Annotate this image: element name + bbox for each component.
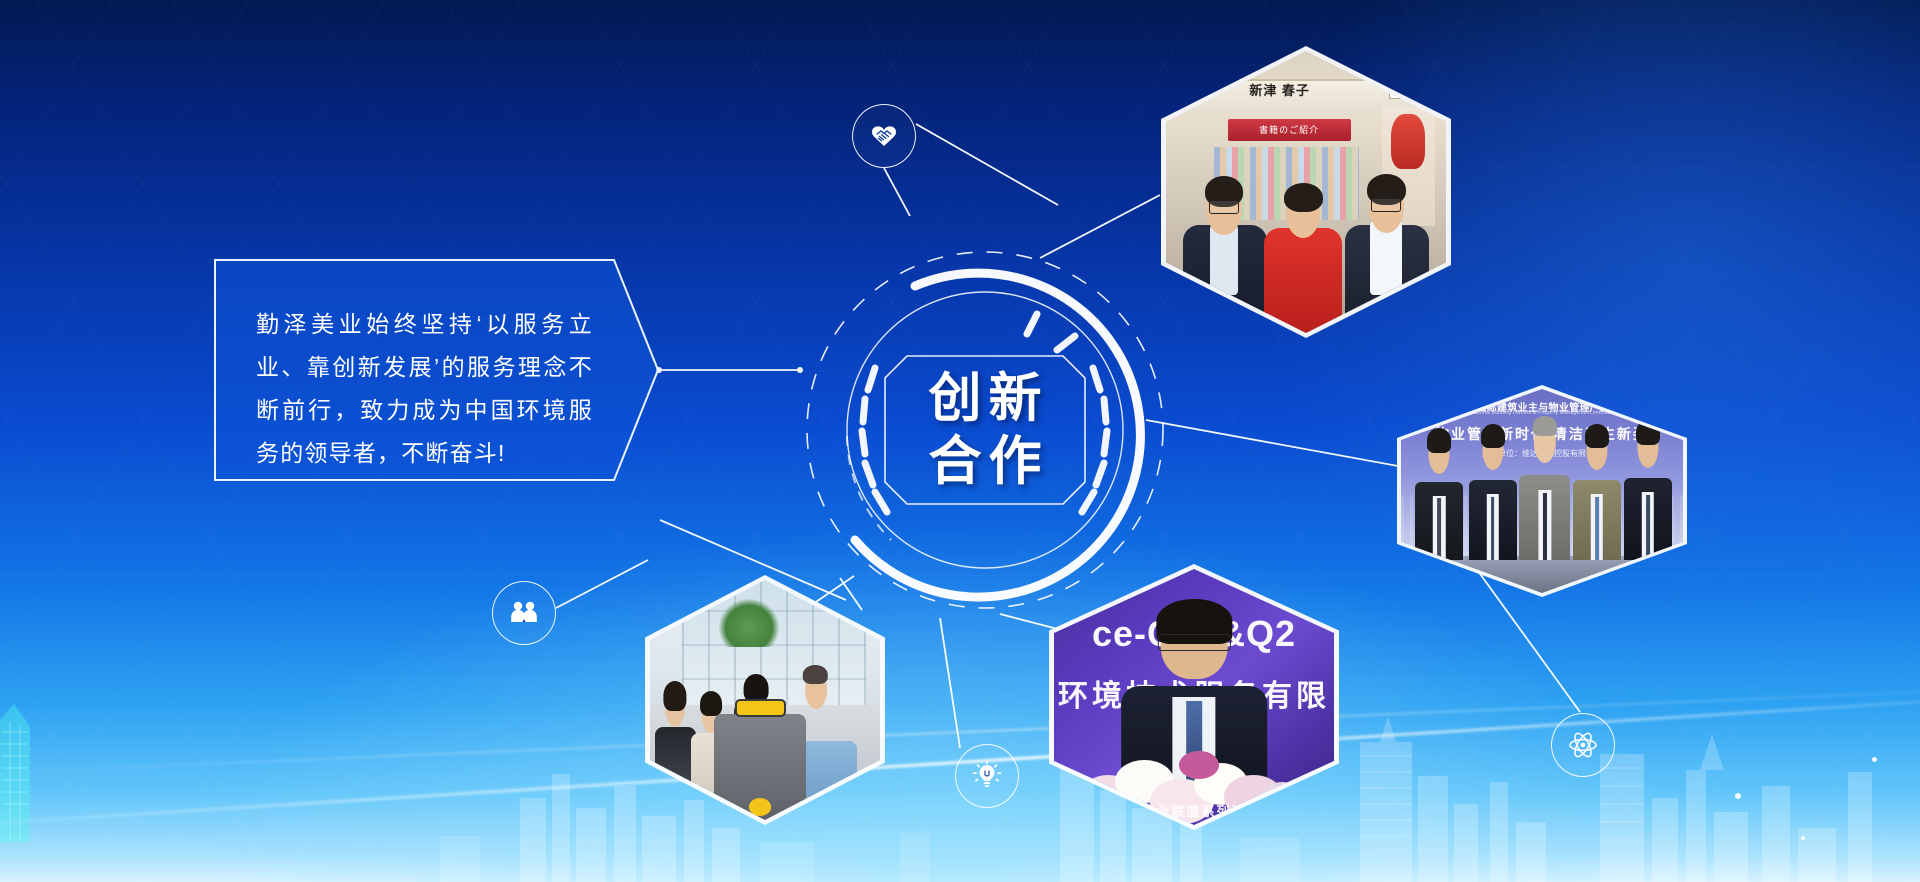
handshake-heart-icon [868, 120, 900, 152]
mission-statement-text: 勤泽美业始终坚持‘以服务立业、靠创新发展’的服务理念不断前行，致力成为中国环境服… [256, 303, 593, 475]
photo-hexagon-conference[interactable]: 2019上海国际建筑业主与物业管理产业创新发展 2019 Shanghai In… [1401, 389, 1683, 593]
lightbulb-icon [971, 760, 1003, 792]
conference-person-3 [1519, 414, 1570, 561]
speaker-screen-text-bottom: 服务业联盟系列活动 [1054, 801, 1334, 820]
sparkle-dot-1 [1735, 793, 1741, 799]
two-people-icon [508, 597, 540, 629]
person-center [1264, 169, 1342, 333]
conference-person-4 [1573, 422, 1621, 561]
bookstore-photo: 新津 春子 全仕事 書籍のご紹介 [1166, 51, 1446, 333]
handshake-heart-icon-node[interactable] [852, 104, 916, 168]
atom-icon-node[interactable] [1551, 713, 1615, 777]
bookstore-red-strip: 書籍のご紹介 [1228, 119, 1351, 142]
center-emblem: 创新 合作 [795, 240, 1175, 620]
city-skyline-silhouette [0, 712, 1920, 882]
photo-hexagon-bookstore[interactable]: 新津 春子 全仕事 書籍のご紹介 [1166, 51, 1446, 333]
sparkle-dot-3 [1801, 836, 1805, 840]
scrubber-knob [749, 798, 771, 816]
speaker-glasses-icon [1158, 634, 1231, 651]
hero-banner: 勤泽美业始终坚持‘以服务立业、靠创新发展’的服务理念不断前行，致力成为中国环境服… [0, 0, 1920, 882]
conference-floor [1401, 556, 1683, 593]
lightbulb-icon-node[interactable] [955, 744, 1019, 808]
demo-tree [719, 599, 779, 647]
scrubber-handle [735, 699, 787, 717]
conference-photo: 2019上海国际建筑业主与物业管理产业创新发展 2019 Shanghai In… [1401, 389, 1683, 593]
demo-person-1 [655, 676, 696, 810]
person-right [1345, 158, 1429, 333]
atom-icon [1567, 729, 1599, 761]
conference-person-5 [1624, 418, 1672, 561]
bookstore-banner-title: 新津 春子 [1249, 80, 1310, 99]
conference-person-1 [1415, 426, 1463, 561]
sparkle-dot-2 [1872, 757, 1877, 762]
bookstore-red-strip-text: 書籍のご紹介 [1228, 119, 1351, 142]
two-people-icon-node[interactable] [492, 581, 556, 645]
city-skyline-left [0, 692, 120, 842]
mission-statement-panel: 勤泽美业始终坚持‘以服务立业、靠创新发展’的服务理念不断前行，致力成为中国环境服… [214, 259, 659, 481]
emblem-rings [795, 240, 1175, 620]
person-left [1183, 158, 1267, 333]
conference-person-2 [1469, 422, 1517, 561]
